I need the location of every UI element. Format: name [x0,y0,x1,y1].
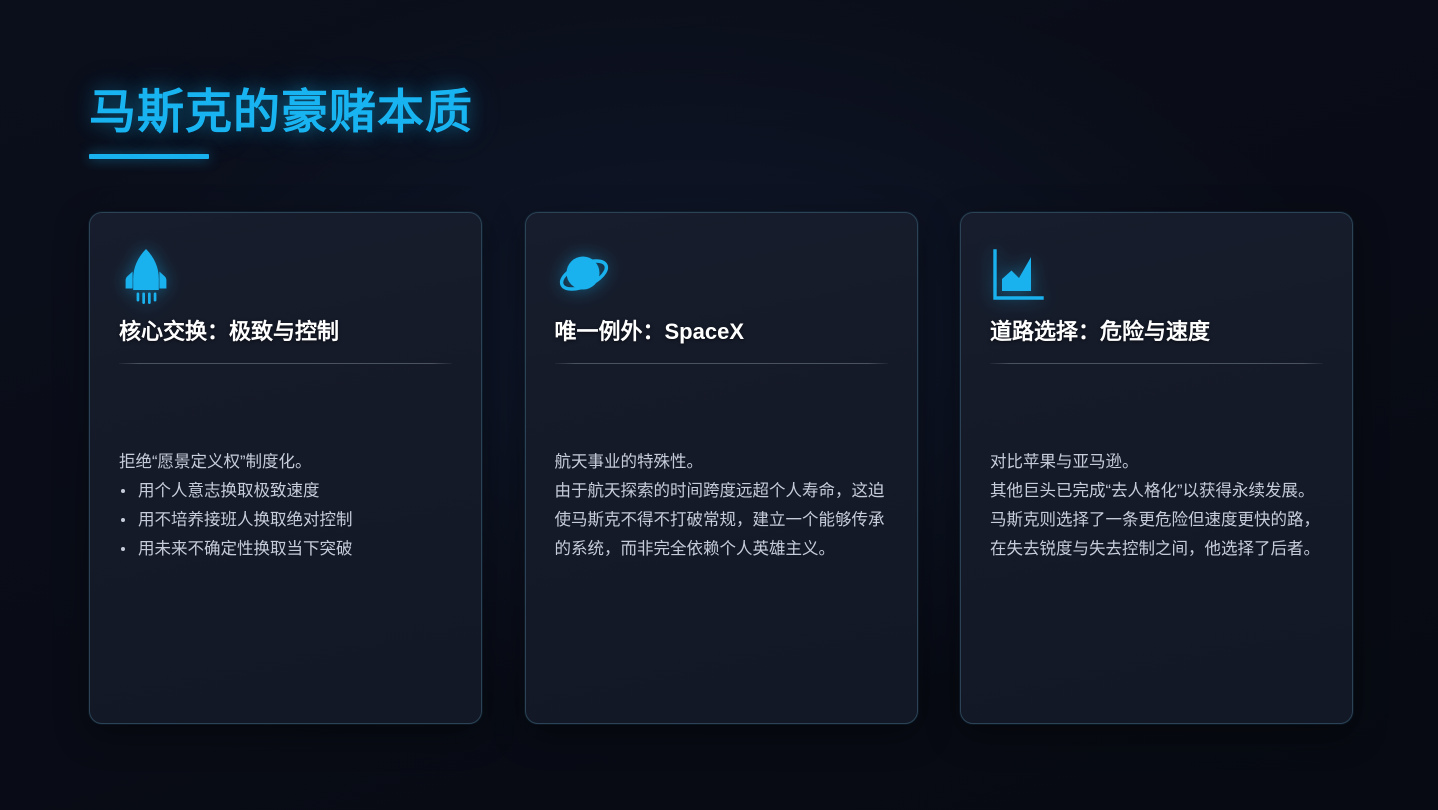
card-lead-text: 拒绝“愿景定义权”制度化。 [119,448,452,477]
card-divider [990,363,1323,364]
slide-root: 马斯克的豪赌本质 核心交换：极致与控制 拒绝“愿景定义权”制度化。 [0,0,1438,810]
list-item: 用未来不确定性换取当下突破 [119,535,452,564]
list-item-label: 用不培养接班人换取绝对控制 [138,511,353,529]
bullet-dot-icon [121,518,125,522]
card-paragraph: 由于航天探索的时间跨度远超个人寿命，这迫使马斯克不得不打破常规，建立一个能够传承… [555,477,888,564]
card-lead-text: 对比苹果与亚马逊。 [990,448,1323,477]
card-grid: 核心交换：极致与控制 拒绝“愿景定义权”制度化。 用个人意志换取极致速度 用不培… [89,212,1353,724]
title-underline-accent [89,154,209,159]
card-lead-text: 航天事业的特殊性。 [555,448,888,477]
list-item-label: 用个人意志换取极致速度 [138,482,320,500]
card-paragraph: 其他巨头已完成“去人格化”以获得永续发展。马斯克则选择了一条更危险但速度更快的路… [990,477,1323,564]
planet-icon [555,244,888,308]
rocket-icon [119,244,452,308]
card-heading: 核心交换：极致与控制 [119,318,452,347]
bullet-dot-icon [121,547,125,551]
card-body: 航天事业的特殊性。 由于航天探索的时间跨度远超个人寿命，这迫使马斯克不得不打破常… [555,448,888,564]
list-item: 用个人意志换取极致速度 [119,477,452,506]
card-heading: 道路选择：危险与速度 [990,318,1323,347]
card-path-choice[interactable]: 道路选择：危险与速度 对比苹果与亚马逊。 其他巨头已完成“去人格化”以获得永续发… [960,212,1353,724]
card-heading: 唯一例外：SpaceX [555,318,888,347]
list-item: 用不培养接班人换取绝对控制 [119,506,452,535]
bullet-dot-icon [121,489,125,493]
card-body: 对比苹果与亚马逊。 其他巨头已完成“去人格化”以获得永续发展。马斯克则选择了一条… [990,448,1323,564]
card-bullet-list: 用个人意志换取极致速度 用不培养接班人换取绝对控制 用未来不确定性换取当下突破 [119,477,452,564]
card-divider [555,363,888,364]
list-item-label: 用未来不确定性换取当下突破 [138,540,353,558]
title-block: 马斯克的豪赌本质 [89,86,473,159]
card-body: 拒绝“愿景定义权”制度化。 用个人意志换取极致速度 用不培养接班人换取绝对控制 … [119,448,452,564]
card-core-tradeoff[interactable]: 核心交换：极致与控制 拒绝“愿景定义权”制度化。 用个人意志换取极致速度 用不培… [89,212,482,724]
page-title: 马斯克的豪赌本质 [89,86,473,138]
card-divider [119,363,452,364]
area-chart-icon [990,244,1323,308]
card-spacex-exception[interactable]: 唯一例外：SpaceX 航天事业的特殊性。 由于航天探索的时间跨度远超个人寿命，… [525,212,918,724]
